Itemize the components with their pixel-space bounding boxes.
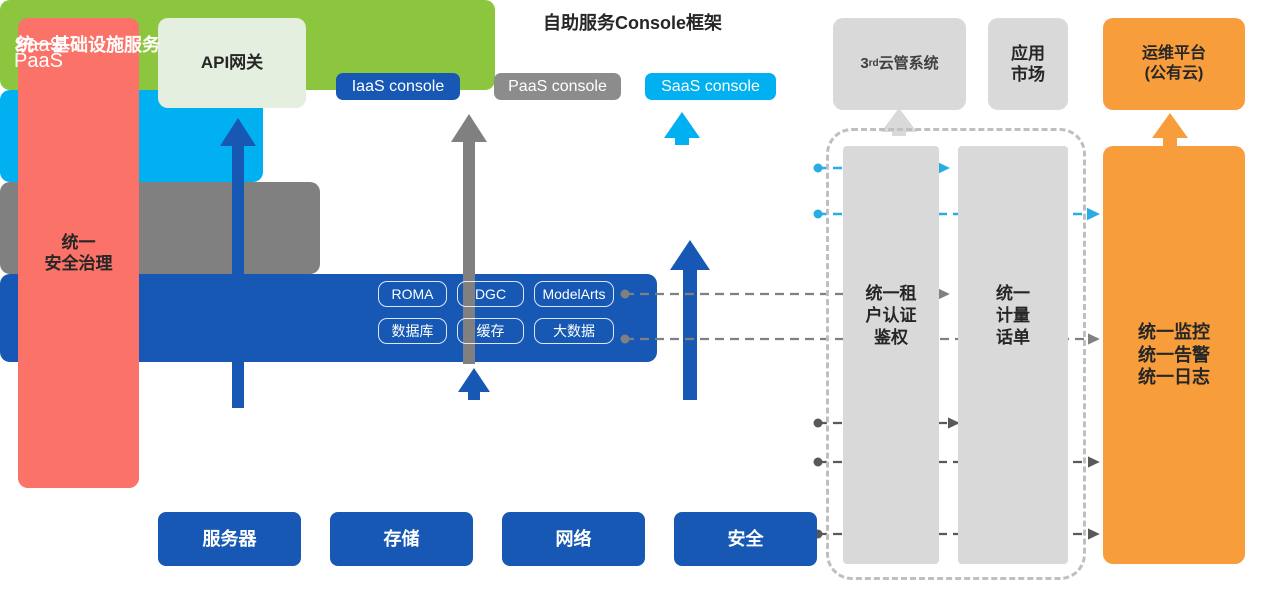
- saas-service-iot[interactable]: IoT: [726, 160, 796, 188]
- unified-billing-column[interactable]: [958, 146, 1068, 564]
- iaas-console-badge[interactable]: IaaS console: [336, 73, 460, 100]
- hardware-box-security[interactable]: 安全: [674, 512, 817, 566]
- hardware-box-server[interactable]: 服务器: [158, 512, 301, 566]
- console-framework-title: 自助服务Console框架: [0, 9, 1265, 35]
- unified-auth-column[interactable]: [843, 146, 939, 564]
- infrastructure-layer-label: 统一基础设施服务: [16, 31, 160, 57]
- paas-service-database[interactable]: 数据库: [378, 318, 447, 344]
- architecture-diagram: 统一 安全治理 API网关 自助服务Console框架 IaaS console…: [0, 0, 1265, 605]
- paas-service-bigdata[interactable]: 大数据: [534, 318, 614, 344]
- paas-service-cache[interactable]: 缓存: [457, 318, 524, 344]
- arrow-infra-to-saas: [670, 240, 710, 400]
- infrastructure-service-cce[interactable]: CCE: [705, 421, 813, 457]
- unified-billing-label: 统一 计量 话单: [958, 283, 1068, 348]
- arrow-infra-to-paas: [458, 368, 490, 400]
- unified-auth-label: 统一租 户认证 鉴权: [843, 283, 939, 348]
- app-market-box[interactable]: 应用 市场: [988, 18, 1068, 110]
- saas-service-desktop-cloud[interactable]: 桌面云: [726, 198, 796, 226]
- saas-service-video-cloud[interactable]: 视频云: [640, 198, 716, 226]
- third-party-suffix: 云管系统: [879, 55, 939, 74]
- third-party-prefix: 3: [860, 55, 868, 74]
- paas-service-roma[interactable]: ROMA: [378, 281, 447, 307]
- hardware-box-network[interactable]: 网络: [502, 512, 645, 566]
- paas-service-modelarts[interactable]: ModelArts: [534, 281, 614, 307]
- infrastructure-service-compute[interactable]: Compute: [344, 421, 455, 457]
- paas-console-badge[interactable]: PaaS console: [494, 73, 621, 100]
- third-party-superscript: rd: [869, 58, 879, 71]
- arrow-dashed-box-to-ops-platform: [1152, 113, 1188, 146]
- paas-service-dgc[interactable]: DGC: [457, 281, 524, 307]
- third-party-cloud-management-box[interactable]: 3rd云管系统: [833, 18, 966, 110]
- saas-console-badge[interactable]: SaaS console: [645, 73, 776, 100]
- infrastructure-service-network[interactable]: Network: [583, 421, 697, 457]
- saas-service-blockchain[interactable]: 区块链: [640, 160, 716, 188]
- hardware-box-storage[interactable]: 存储: [330, 512, 473, 566]
- arrow-saas-to-console: [664, 112, 700, 145]
- ops-platform-header-box[interactable]: 运维平台 (公有云): [1103, 18, 1245, 110]
- infrastructure-service-storage[interactable]: Storage: [464, 421, 575, 457]
- ops-platform-column[interactable]: 统一监控 统一告警 统一日志: [1103, 146, 1245, 564]
- security-governance-column[interactable]: 统一 安全治理: [18, 18, 139, 488]
